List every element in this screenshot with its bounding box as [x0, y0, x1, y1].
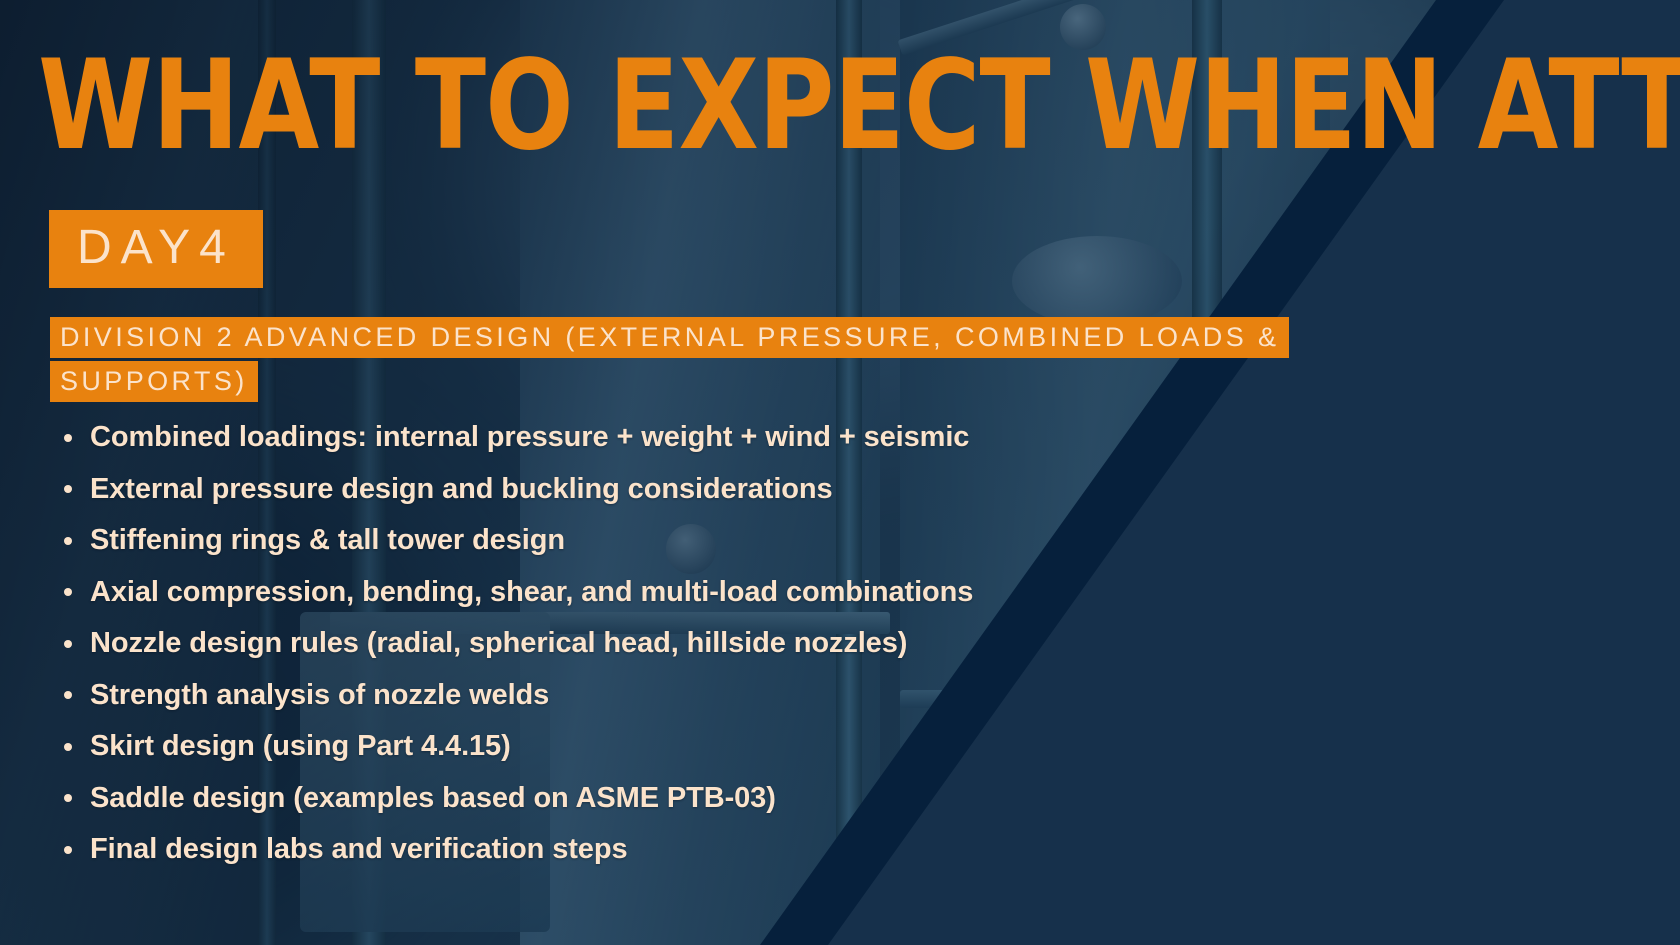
bullet-dot-icon [64, 588, 72, 596]
list-item: Stiffening rings & tall tower design [58, 515, 1558, 567]
bullet-dot-icon [64, 640, 72, 648]
bullet-dot-icon [64, 434, 72, 442]
presentation-slide: WHAT TO EXPECT WHEN ATTENDING DAY4 DIVIS… [0, 0, 1680, 945]
slide-content: WHAT TO EXPECT WHEN ATTENDING DAY4 DIVIS… [0, 0, 1680, 945]
list-item-label: Skirt design (using Part 4.4.15) [90, 730, 511, 762]
list-item-label: Combined loadings: internal pressure + w… [90, 421, 969, 453]
list-item: Nozzle design rules (radial, spherical h… [58, 618, 1558, 670]
agenda-bullet-list: Combined loadings: internal pressure + w… [58, 412, 1558, 876]
list-item-label: Axial compression, bending, shear, and m… [90, 576, 973, 608]
list-item: Final design labs and verification steps [58, 824, 1558, 876]
list-item-label: Strength analysis of nozzle welds [90, 679, 549, 711]
list-item: Saddle design (examples based on ASME PT… [58, 773, 1558, 825]
bullet-dot-icon [64, 691, 72, 699]
bullet-dot-icon [64, 743, 72, 751]
list-item-label: Nozzle design rules (radial, spherical h… [90, 627, 907, 659]
slide-headline: WHAT TO EXPECT WHEN ATTENDING [38, 44, 1403, 168]
list-item: Axial compression, bending, shear, and m… [58, 567, 1558, 619]
list-item: Combined loadings: internal pressure + w… [58, 412, 1558, 464]
list-item-label: Saddle design (examples based on ASME PT… [90, 782, 776, 814]
list-item-label: Final design labs and verification steps [90, 833, 627, 865]
bullet-dot-icon [64, 485, 72, 493]
list-item-label: External pressure design and buckling co… [90, 473, 833, 505]
bullet-dot-icon [64, 794, 72, 802]
slide-subtitle: DIVISION 2 ADVANCED DESIGN (EXTERNAL PRE… [50, 317, 1289, 402]
list-item: Strength analysis of nozzle welds [58, 670, 1558, 722]
bullet-dot-icon [64, 846, 72, 854]
list-item-label: Stiffening rings & tall tower design [90, 524, 565, 556]
list-item: External pressure design and buckling co… [58, 464, 1558, 516]
slide-subtitle-container: DIVISION 2 ADVANCED DESIGN (EXTERNAL PRE… [50, 316, 1450, 403]
bullet-dot-icon [64, 537, 72, 545]
list-item: Skirt design (using Part 4.4.15) [58, 721, 1558, 773]
day-badge: DAY4 [49, 210, 263, 288]
